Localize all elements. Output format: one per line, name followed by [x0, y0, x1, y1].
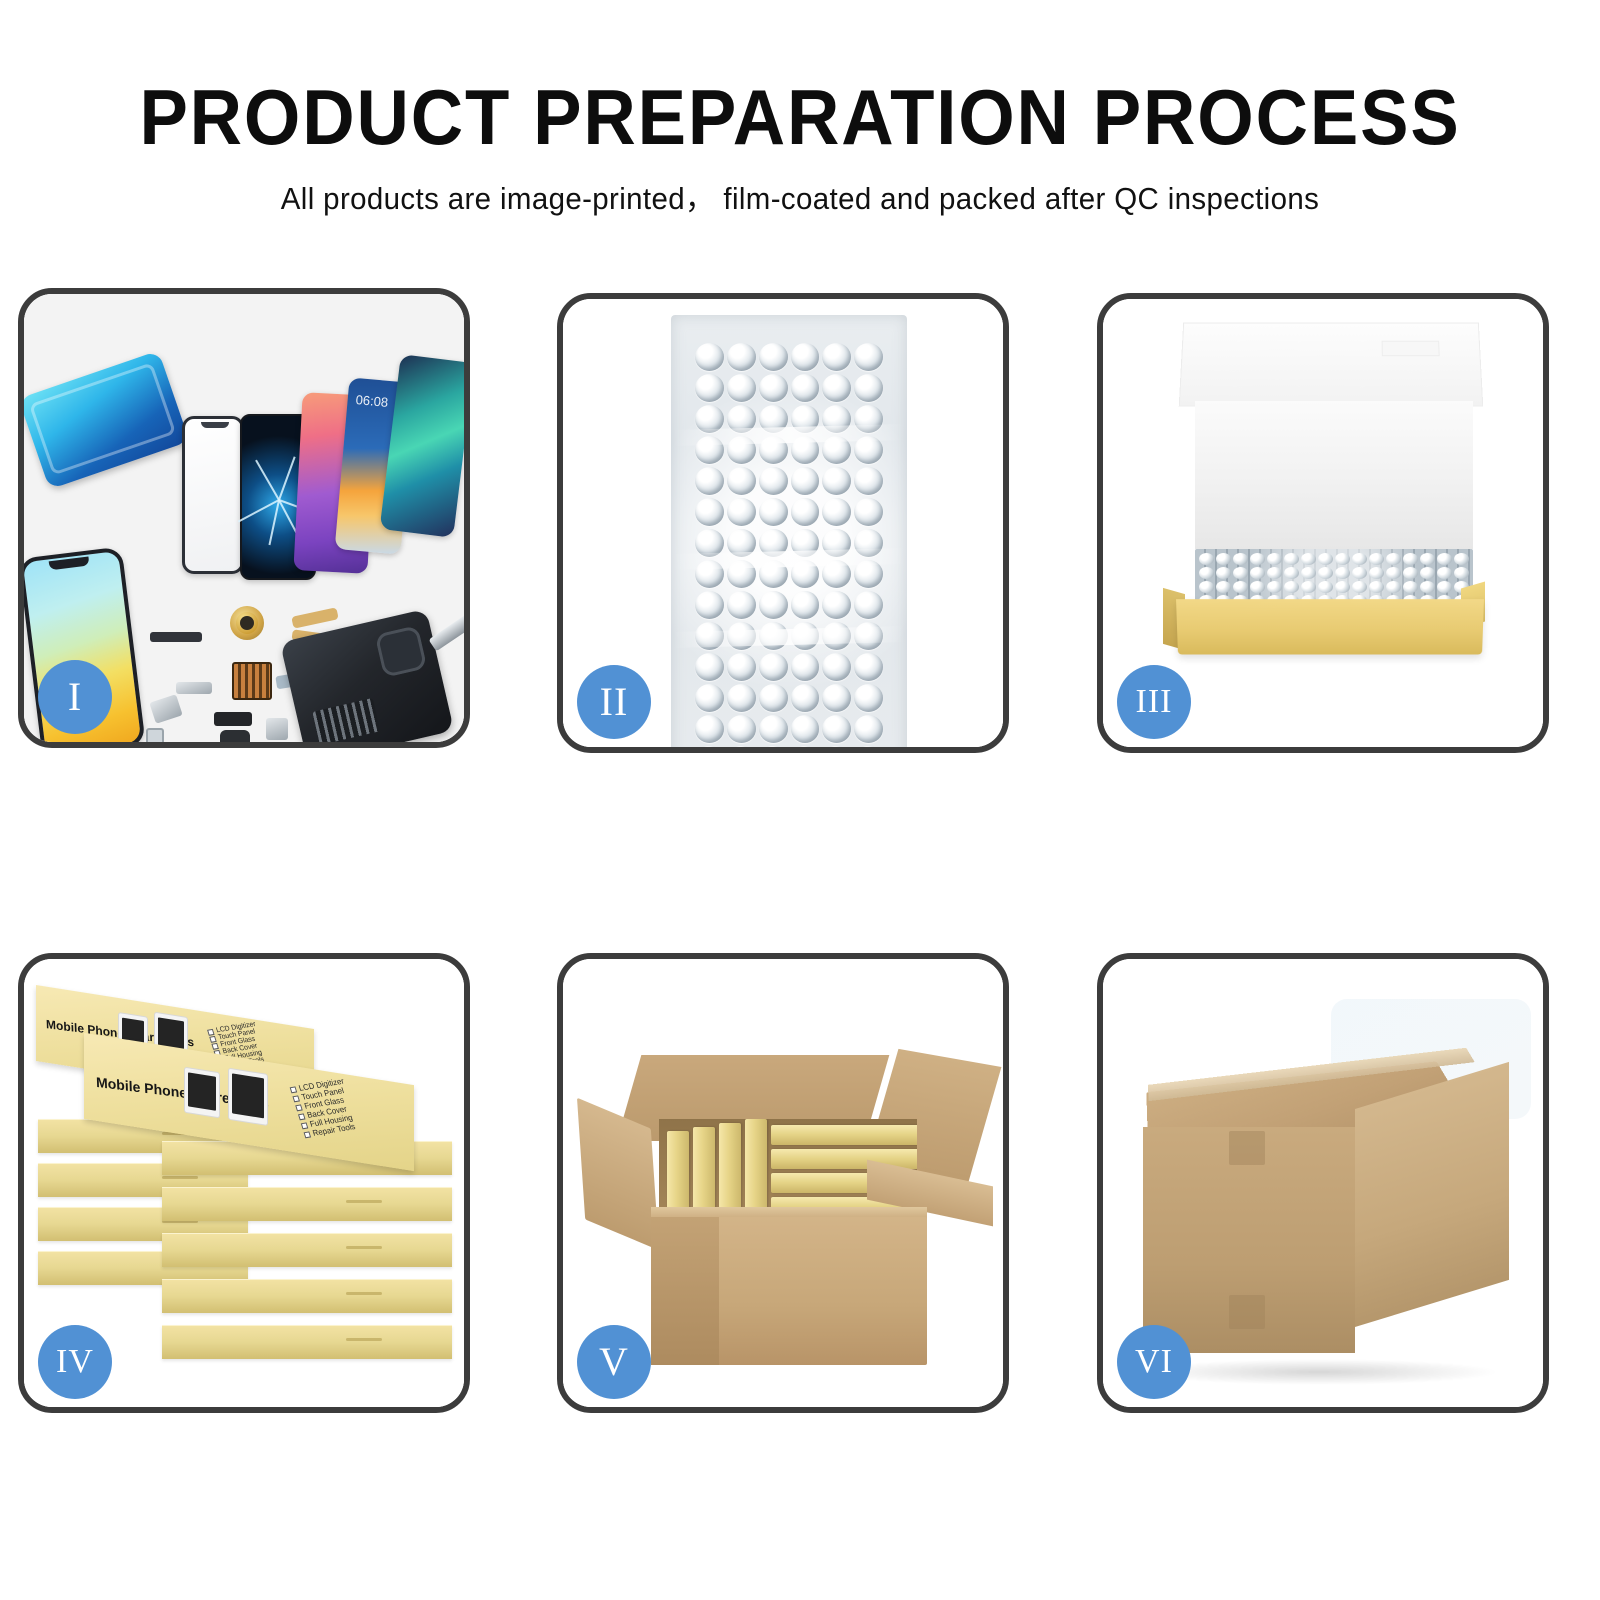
bubble-icon	[854, 374, 883, 402]
bubble-icon	[1233, 567, 1248, 579]
bubble-icon	[1267, 553, 1282, 565]
bubble-icon	[695, 343, 724, 371]
bubble-icon	[759, 684, 788, 712]
lid-tab	[1382, 341, 1440, 356]
bubble-icon	[854, 591, 883, 619]
bubble-icon	[695, 715, 724, 743]
retail-box-checklist-front: LCD Digitizer Touch Panel Front Glass Ba…	[289, 1076, 359, 1139]
bubble-icon	[727, 746, 756, 747]
bubble-icon	[1216, 567, 1231, 579]
process-grid: 06:08	[18, 288, 1584, 1453]
bubble-icon	[1267, 567, 1282, 579]
bubble-icon	[1420, 553, 1435, 565]
bubble-icon	[1250, 553, 1265, 565]
bubble-icon	[1386, 567, 1401, 579]
bubble-icon	[854, 467, 883, 495]
bubble-icon	[854, 746, 883, 747]
label-phone-thumb	[184, 1067, 220, 1119]
bubble-icon	[759, 746, 788, 747]
bubble-icon	[1301, 581, 1316, 593]
carton-body	[651, 1217, 927, 1365]
bubble-icon	[1250, 567, 1265, 579]
bubble-icon	[822, 467, 851, 495]
step-panel-2: II	[557, 293, 1009, 753]
bubble-icon	[1437, 567, 1452, 579]
bubble-icon	[1403, 581, 1418, 593]
step-badge-1: I	[38, 660, 112, 734]
bubble-icon	[759, 374, 788, 402]
sim-tray-icon	[146, 728, 164, 742]
bubble-icon	[1216, 581, 1231, 593]
bubble-icon	[727, 467, 756, 495]
bubble-icon	[759, 715, 788, 743]
bubble-icon	[1318, 567, 1333, 579]
speaker-icon	[220, 730, 250, 742]
bubble-icon	[1335, 553, 1350, 565]
step-badge-6: VI	[1117, 1325, 1191, 1399]
bubble-icon	[1335, 567, 1350, 579]
bubble-icon	[822, 715, 851, 743]
box-lid-icon	[1179, 323, 1484, 407]
label-phone-thumb	[228, 1068, 268, 1126]
step-panel-6: VI	[1097, 953, 1549, 1413]
bubble-icon	[1369, 581, 1384, 593]
bubble-icon	[727, 715, 756, 743]
step-panel-3: III	[1097, 293, 1549, 753]
bubble-icon	[1420, 581, 1435, 593]
bubble-icon	[791, 746, 820, 747]
bubble-pouch-icon	[671, 315, 907, 747]
bubble-icon	[759, 498, 788, 526]
bubble-icon	[791, 653, 820, 681]
step-panel-1: 06:08	[18, 288, 470, 748]
bubble-icon	[1352, 581, 1367, 593]
bubble-icon	[822, 684, 851, 712]
bubble-icon	[695, 591, 724, 619]
step-panel-5: V	[557, 953, 1009, 1413]
bubble-icon	[695, 746, 724, 747]
bubble-icon	[822, 653, 851, 681]
step-panel-4: Mobile Phone Spare Parts LCD Digitizer T…	[18, 953, 470, 1413]
camera-module-icon	[149, 694, 182, 724]
box-front-panel	[1176, 599, 1484, 654]
step-badge-2: II	[577, 665, 651, 739]
bubble-icon	[791, 467, 820, 495]
bubble-icon	[1233, 553, 1248, 565]
bubble-icon	[1403, 567, 1418, 579]
bubble-icon	[1301, 567, 1316, 579]
bubble-icon	[1199, 567, 1214, 579]
bubble-icon	[1437, 581, 1452, 593]
carton-front	[1143, 1127, 1355, 1353]
bubble-icon	[727, 653, 756, 681]
bubble-icon	[1386, 553, 1401, 565]
bubble-icon	[854, 715, 883, 743]
bubble-icon	[1369, 553, 1384, 565]
bubble-icon	[791, 591, 820, 619]
bubble-icon	[1454, 567, 1469, 579]
bubble-icon	[854, 684, 883, 712]
earpiece-mesh-icon	[150, 632, 202, 642]
bubble-icon	[1233, 581, 1248, 593]
wireless-coil-icon	[230, 606, 264, 640]
bubble-icon	[1199, 581, 1214, 593]
step-badge-4: IV	[38, 1325, 112, 1399]
bubble-icon	[695, 653, 724, 681]
bubble-icon	[822, 746, 851, 747]
bubble-icon	[854, 653, 883, 681]
box-interior	[1195, 401, 1473, 549]
taptic-icon	[266, 718, 288, 740]
bubble-icon	[1284, 581, 1299, 593]
bubble-icon	[1250, 581, 1265, 593]
adhesive-frame-icon	[24, 351, 190, 490]
bubble-icon	[1369, 567, 1384, 579]
bubble-icon	[1267, 581, 1282, 593]
bubble-icon	[695, 374, 724, 402]
bubble-icon	[759, 591, 788, 619]
page-subtitle: All products are image-printed， film-coa…	[40, 182, 1560, 216]
carton-shadow	[1139, 1359, 1499, 1385]
bubble-icon	[727, 498, 756, 526]
bubble-icon	[1284, 553, 1299, 565]
page-title: PRODUCT PREPARATION PROCESS	[56, 78, 1544, 156]
chip-ic-icon	[232, 662, 272, 700]
flex-cable-icon	[291, 607, 338, 628]
bubble-icon	[1437, 553, 1452, 565]
bubble-icon	[759, 653, 788, 681]
bubble-icon	[727, 591, 756, 619]
bubble-icon	[727, 343, 756, 371]
bubble-icon	[791, 374, 820, 402]
bubble-icon	[822, 374, 851, 402]
bubble-icon	[695, 498, 724, 526]
bubble-icon	[727, 684, 756, 712]
bubble-icon	[791, 343, 820, 371]
bubble-icon	[791, 498, 820, 526]
bubble-icon	[1386, 581, 1401, 593]
bubble-icon	[791, 715, 820, 743]
bubble-icon	[854, 343, 883, 371]
step-badge-3: III	[1117, 665, 1191, 739]
bubble-icon	[1454, 553, 1469, 565]
bubble-icon	[1318, 553, 1333, 565]
connector-icon	[214, 712, 252, 726]
bubble-icon	[1301, 553, 1316, 565]
bubble-icon	[695, 467, 724, 495]
bubble-icon	[1403, 553, 1418, 565]
bubble-icon	[822, 343, 851, 371]
bubble-icon	[1352, 567, 1367, 579]
carton-side	[1355, 1062, 1509, 1327]
infographic-page: PRODUCT PREPARATION PROCESS All products…	[0, 0, 1600, 1600]
header: PRODUCT PREPARATION PROCESS All products…	[0, 0, 1600, 216]
bubble-icon	[791, 684, 820, 712]
bubble-icon	[1352, 553, 1367, 565]
bubble-icon	[759, 343, 788, 371]
front-glass-icon	[182, 416, 244, 574]
bubble-icon	[854, 498, 883, 526]
bubble-icon	[822, 591, 851, 619]
bubble-icon	[1216, 553, 1231, 565]
bubble-icon	[822, 498, 851, 526]
bubble-icon	[695, 684, 724, 712]
bubble-icon	[1199, 553, 1214, 565]
bubble-icon	[759, 467, 788, 495]
bubble-grid	[695, 343, 883, 735]
bubble-icon	[1420, 567, 1435, 579]
bubble-icon	[1335, 581, 1350, 593]
bubble-icon	[1284, 567, 1299, 579]
bubble-icon	[1318, 581, 1333, 593]
logic-board-icon	[280, 609, 454, 742]
bubble-icon	[727, 374, 756, 402]
tweezer-icon	[429, 611, 464, 652]
bracket-icon	[176, 682, 212, 694]
step-badge-5: V	[577, 1325, 651, 1399]
